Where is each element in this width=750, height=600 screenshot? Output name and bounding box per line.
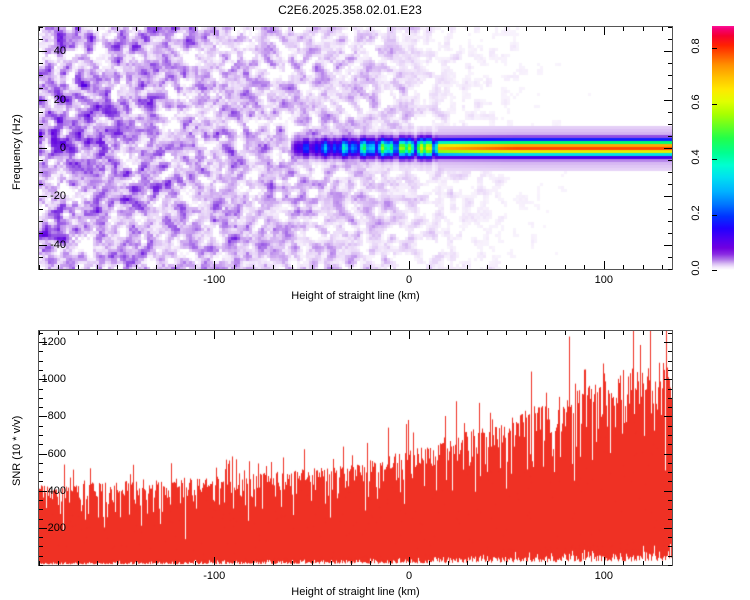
axis-major-tick-x — [214, 557, 215, 565]
axis-major-tick-x — [604, 27, 605, 35]
axis-major-tick-y — [664, 416, 672, 417]
axis-major-tick-x — [214, 261, 215, 269]
axis-minor-tick-x — [234, 561, 235, 565]
axis-minor-tick-x — [448, 561, 449, 565]
axis-minor-tick-x — [545, 27, 546, 31]
axis-tick-label-x: 100 — [595, 570, 613, 582]
axis-minor-tick-x — [623, 561, 624, 565]
axis-minor-tick-y — [39, 75, 43, 76]
axis-minor-tick-y — [668, 370, 672, 371]
axis-minor-tick-y — [39, 39, 43, 40]
colorbar-tick — [712, 48, 717, 49]
axis-minor-tick-x — [390, 27, 391, 31]
axis-tick-label-y: 1000 — [32, 373, 66, 385]
axis-minor-tick-y — [668, 519, 672, 520]
axis-minor-tick-y — [668, 444, 672, 445]
snr-plot — [38, 330, 673, 566]
axis-minor-tick-y — [668, 463, 672, 464]
axis-minor-tick-x — [156, 331, 157, 335]
axis-minor-tick-x — [253, 331, 254, 335]
axis-minor-tick-y — [39, 472, 43, 473]
axis-minor-tick-x — [97, 265, 98, 269]
axis-minor-tick-x — [487, 27, 488, 31]
axis-tick-label-x: 0 — [406, 570, 412, 582]
axis-minor-tick-x — [136, 331, 137, 335]
axis-minor-tick-x — [78, 27, 79, 31]
axis-minor-tick-y — [668, 398, 672, 399]
axis-minor-tick-x — [643, 331, 644, 335]
axis-minor-tick-y — [668, 361, 672, 362]
axis-minor-tick-y — [668, 88, 672, 89]
axis-minor-tick-y — [668, 233, 672, 234]
axis-minor-tick-y — [668, 546, 672, 547]
axis-minor-tick-y — [668, 565, 672, 566]
axis-minor-tick-y — [39, 537, 43, 538]
axis-minor-tick-x — [195, 27, 196, 31]
axis-major-tick-y — [664, 245, 672, 246]
axis-major-tick-y — [664, 51, 672, 52]
axis-minor-tick-y — [39, 398, 43, 399]
axis-minor-tick-x — [526, 265, 527, 269]
axis-minor-tick-x — [467, 265, 468, 269]
axis-minor-tick-x — [467, 27, 468, 31]
axis-minor-tick-x — [195, 561, 196, 565]
axis-minor-tick-x — [58, 265, 59, 269]
axis-minor-tick-y — [39, 500, 43, 501]
axis-minor-tick-y — [668, 184, 672, 185]
axis-minor-tick-x — [448, 27, 449, 31]
axis-major-tick-x — [214, 27, 215, 35]
axis-tick-label-y: 200 — [32, 522, 66, 534]
axis-minor-tick-x — [506, 27, 507, 31]
axis-minor-tick-y — [39, 172, 43, 173]
axis-minor-tick-y — [39, 435, 43, 436]
colorbar-tick-label: 0.4 — [690, 147, 702, 167]
axis-minor-tick-y — [39, 509, 43, 510]
axis-minor-tick-y — [39, 556, 43, 557]
spectrogram-canvas — [39, 27, 672, 269]
axis-minor-tick-x — [312, 27, 313, 31]
axis-minor-tick-x — [467, 331, 468, 335]
axis-minor-tick-x — [390, 561, 391, 565]
axis-tick-label-y: 40 — [32, 45, 66, 57]
axis-minor-tick-x — [584, 265, 585, 269]
axis-minor-tick-x — [292, 331, 293, 335]
axis-minor-tick-x — [526, 561, 527, 565]
axis-minor-tick-y — [39, 519, 43, 520]
axis-major-tick-x — [409, 261, 410, 269]
axis-minor-tick-x — [195, 331, 196, 335]
axis-tick-label-y: 600 — [32, 448, 66, 460]
axis-minor-tick-y — [668, 124, 672, 125]
spectrogram-x-axis-title: Height of straight line (km) — [291, 290, 419, 302]
axis-minor-tick-x — [429, 27, 430, 31]
axis-tick-label-y: 400 — [32, 485, 66, 497]
axis-minor-tick-x — [565, 331, 566, 335]
axis-minor-tick-y — [668, 509, 672, 510]
axis-minor-tick-x — [565, 27, 566, 31]
colorbar-tick — [712, 159, 717, 160]
axis-minor-tick-x — [351, 27, 352, 31]
axis-minor-tick-x — [662, 265, 663, 269]
axis-minor-tick-x — [156, 561, 157, 565]
axis-minor-tick-x — [545, 331, 546, 335]
axis-minor-tick-y — [39, 63, 43, 64]
snr-x-axis-title: Height of straight line (km) — [291, 586, 419, 598]
axis-tick-label-y: -40 — [32, 239, 66, 251]
axis-major-tick-y — [664, 342, 672, 343]
axis-minor-tick-x — [312, 561, 313, 565]
axis-minor-tick-x — [273, 561, 274, 565]
axis-minor-tick-x — [370, 331, 371, 335]
axis-minor-tick-y — [668, 481, 672, 482]
axis-minor-tick-x — [643, 561, 644, 565]
axis-minor-tick-y — [39, 160, 43, 161]
colorbar-tick-label: 0.0 — [690, 258, 702, 278]
axis-minor-tick-x — [429, 561, 430, 565]
axis-minor-tick-x — [623, 265, 624, 269]
axis-minor-tick-x — [78, 265, 79, 269]
axis-tick-label-x: 100 — [595, 274, 613, 286]
axis-minor-tick-x — [643, 27, 644, 31]
axis-minor-tick-x — [78, 561, 79, 565]
axis-minor-tick-y — [39, 565, 43, 566]
axis-minor-tick-x — [506, 561, 507, 565]
axis-major-tick-y — [664, 528, 672, 529]
axis-major-tick-x — [409, 557, 410, 565]
axis-minor-tick-x — [97, 561, 98, 565]
axis-minor-tick-x — [58, 331, 59, 335]
axis-minor-tick-y — [668, 426, 672, 427]
axis-minor-tick-y — [668, 435, 672, 436]
axis-major-tick-y — [664, 196, 672, 197]
axis-minor-tick-y — [39, 407, 43, 408]
axis-tick-label-x: -100 — [203, 570, 225, 582]
axis-tick-label-y: 0 — [32, 142, 66, 154]
axis-minor-tick-x — [526, 331, 527, 335]
axis-major-tick-x — [604, 331, 605, 339]
axis-minor-tick-y — [668, 389, 672, 390]
snr-canvas — [39, 331, 672, 565]
spectrogram-y-axis-title: Frequency (Hz) — [11, 114, 23, 190]
axis-major-tick-x — [604, 557, 605, 565]
axis-major-tick-x — [409, 331, 410, 339]
axis-minor-tick-y — [668, 63, 672, 64]
axis-minor-tick-x — [662, 331, 663, 335]
axis-minor-tick-y — [39, 233, 43, 234]
axis-minor-tick-y — [39, 112, 43, 113]
axis-minor-tick-y — [668, 333, 672, 334]
axis-tick-label-y: -20 — [32, 190, 66, 202]
axis-minor-tick-x — [175, 265, 176, 269]
axis-major-tick-y — [664, 148, 672, 149]
axis-minor-tick-x — [545, 265, 546, 269]
axis-minor-tick-x — [78, 331, 79, 335]
axis-minor-tick-y — [39, 546, 43, 547]
axis-minor-tick-x — [58, 27, 59, 31]
axis-minor-tick-x — [331, 265, 332, 269]
axis-minor-tick-x — [175, 27, 176, 31]
axis-minor-tick-x — [175, 331, 176, 335]
axis-minor-tick-y — [668, 556, 672, 557]
axis-minor-tick-y — [39, 269, 43, 270]
axis-minor-tick-x — [662, 27, 663, 31]
axis-minor-tick-y — [668, 472, 672, 473]
colorbar-tick-label: 0.6 — [690, 92, 702, 112]
axis-minor-tick-y — [39, 88, 43, 89]
axis-minor-tick-x — [234, 27, 235, 31]
axis-minor-tick-x — [273, 265, 274, 269]
axis-minor-tick-y — [668, 39, 672, 40]
axis-minor-tick-x — [117, 331, 118, 335]
axis-minor-tick-x — [331, 561, 332, 565]
axis-minor-tick-x — [565, 561, 566, 565]
axis-minor-tick-y — [39, 361, 43, 362]
snr-y-axis-title: SNR (10 * v/v) — [11, 416, 23, 486]
axis-minor-tick-y — [39, 184, 43, 185]
axis-minor-tick-x — [136, 561, 137, 565]
axis-minor-tick-y — [39, 209, 43, 210]
axis-minor-tick-x — [136, 27, 137, 31]
axis-minor-tick-y — [39, 463, 43, 464]
axis-minor-tick-x — [351, 561, 352, 565]
axis-minor-tick-x — [370, 27, 371, 31]
axis-minor-tick-x — [97, 27, 98, 31]
colorbar-tick-label: 0.8 — [690, 36, 702, 56]
axis-minor-tick-x — [662, 561, 663, 565]
axis-minor-tick-x — [351, 265, 352, 269]
colorbar-tick — [712, 104, 717, 105]
axis-major-tick-x — [604, 261, 605, 269]
axis-minor-tick-x — [195, 265, 196, 269]
figure-root: C2E6.2025.358.02.01.E23 -1000100-40-2002… — [0, 0, 750, 600]
axis-minor-tick-x — [448, 331, 449, 335]
axis-minor-tick-x — [136, 265, 137, 269]
axis-major-tick-y — [664, 454, 672, 455]
axis-minor-tick-x — [331, 331, 332, 335]
colorbar — [712, 26, 734, 270]
axis-minor-tick-x — [506, 331, 507, 335]
colorbar-tick — [712, 215, 717, 216]
axis-minor-tick-x — [117, 265, 118, 269]
axis-minor-tick-y — [39, 444, 43, 445]
axis-minor-tick-y — [39, 426, 43, 427]
axis-minor-tick-y — [39, 136, 43, 137]
axis-minor-tick-x — [331, 27, 332, 31]
axis-minor-tick-x — [565, 265, 566, 269]
axis-minor-tick-x — [253, 561, 254, 565]
axis-minor-tick-y — [39, 481, 43, 482]
axis-minor-tick-y — [668, 257, 672, 258]
axis-minor-tick-x — [253, 265, 254, 269]
colorbar-tick — [712, 270, 717, 271]
axis-minor-tick-x — [448, 265, 449, 269]
axis-minor-tick-x — [370, 265, 371, 269]
axis-minor-tick-x — [545, 561, 546, 565]
axis-minor-tick-x — [429, 265, 430, 269]
axis-minor-tick-x — [487, 561, 488, 565]
axis-minor-tick-y — [668, 351, 672, 352]
axis-major-tick-y — [664, 379, 672, 380]
axis-major-tick-y — [664, 491, 672, 492]
axis-minor-tick-x — [156, 265, 157, 269]
axis-minor-tick-x — [623, 331, 624, 335]
axis-minor-tick-x — [234, 265, 235, 269]
colorbar-gradient — [712, 26, 734, 270]
axis-minor-tick-x — [584, 27, 585, 31]
axis-minor-tick-y — [668, 160, 672, 161]
axis-minor-tick-x — [351, 331, 352, 335]
axis-minor-tick-x — [117, 561, 118, 565]
axis-minor-tick-x — [58, 561, 59, 565]
page-title: C2E6.2025.358.02.01.E23 — [0, 3, 700, 17]
axis-minor-tick-x — [526, 27, 527, 31]
axis-minor-tick-y — [668, 27, 672, 28]
axis-minor-tick-x — [390, 331, 391, 335]
axis-minor-tick-y — [668, 136, 672, 137]
axis-minor-tick-y — [39, 351, 43, 352]
axis-minor-tick-x — [312, 265, 313, 269]
axis-minor-tick-x — [234, 331, 235, 335]
axis-tick-label-x: 0 — [406, 274, 412, 286]
axis-minor-tick-x — [253, 27, 254, 31]
axis-tick-label-x: -100 — [203, 274, 225, 286]
axis-minor-tick-x — [292, 265, 293, 269]
spectrogram-plot — [38, 26, 673, 270]
axis-minor-tick-y — [39, 370, 43, 371]
axis-minor-tick-x — [584, 561, 585, 565]
axis-tick-label-y: 800 — [32, 410, 66, 422]
axis-minor-tick-x — [506, 265, 507, 269]
axis-minor-tick-x — [312, 331, 313, 335]
axis-minor-tick-x — [429, 331, 430, 335]
axis-minor-tick-y — [668, 112, 672, 113]
axis-minor-tick-y — [668, 75, 672, 76]
axis-tick-label-y: 20 — [32, 94, 66, 106]
axis-minor-tick-x — [390, 265, 391, 269]
axis-minor-tick-y — [39, 333, 43, 334]
axis-minor-tick-y — [39, 221, 43, 222]
axis-minor-tick-x — [487, 331, 488, 335]
axis-minor-tick-y — [668, 500, 672, 501]
axis-minor-tick-x — [370, 561, 371, 565]
axis-minor-tick-x — [467, 561, 468, 565]
axis-minor-tick-x — [156, 27, 157, 31]
axis-minor-tick-y — [668, 221, 672, 222]
axis-minor-tick-x — [117, 27, 118, 31]
axis-minor-tick-y — [39, 389, 43, 390]
axis-minor-tick-x — [273, 331, 274, 335]
axis-major-tick-x — [214, 331, 215, 339]
axis-minor-tick-y — [668, 269, 672, 270]
axis-minor-tick-x — [487, 265, 488, 269]
axis-minor-tick-x — [273, 27, 274, 31]
axis-minor-tick-y — [39, 124, 43, 125]
axis-minor-tick-x — [292, 561, 293, 565]
colorbar-tick-label: 0.2 — [690, 203, 702, 223]
axis-minor-tick-x — [292, 27, 293, 31]
axis-minor-tick-x — [175, 561, 176, 565]
axis-major-tick-y — [664, 100, 672, 101]
axis-major-tick-x — [409, 27, 410, 35]
axis-minor-tick-y — [39, 257, 43, 258]
axis-minor-tick-x — [623, 27, 624, 31]
axis-minor-tick-y — [39, 27, 43, 28]
axis-minor-tick-y — [668, 537, 672, 538]
axis-minor-tick-y — [668, 209, 672, 210]
axis-minor-tick-x — [97, 331, 98, 335]
axis-minor-tick-y — [668, 172, 672, 173]
axis-minor-tick-y — [668, 407, 672, 408]
axis-minor-tick-x — [584, 331, 585, 335]
axis-minor-tick-x — [643, 265, 644, 269]
axis-tick-label-y: 1200 — [32, 336, 66, 348]
